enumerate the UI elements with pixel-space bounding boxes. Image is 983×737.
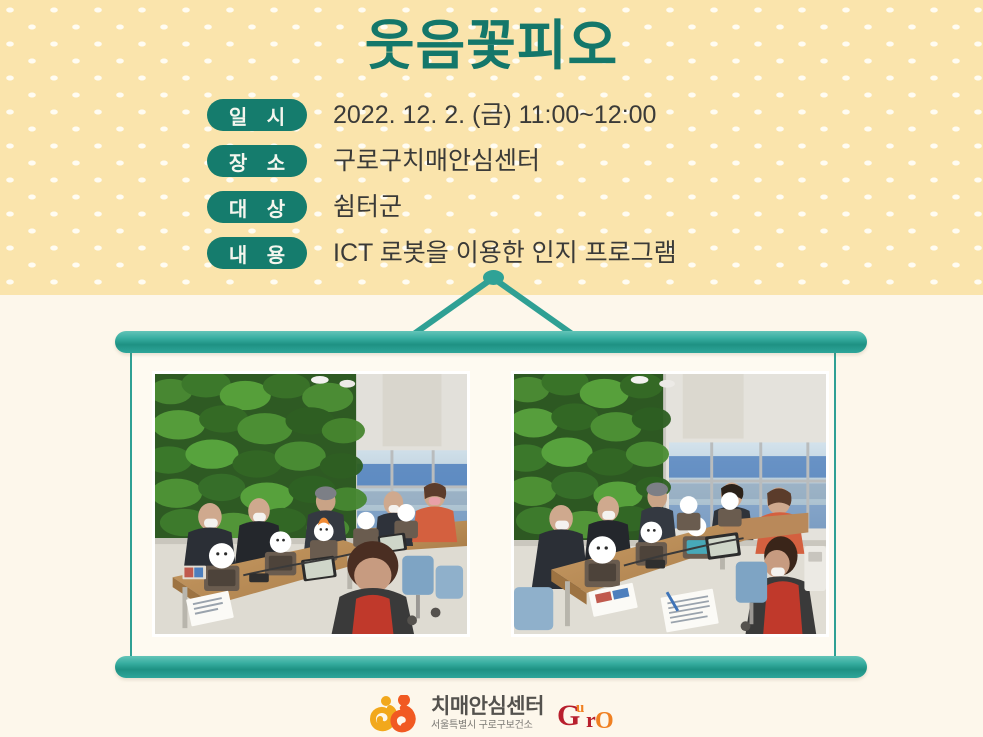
- info-value-place: 구로구치매안심센터: [333, 143, 540, 179]
- footer-logo: 치매안심센터 서울특별시 구로구보건소 G u r O: [0, 690, 983, 737]
- poster-root: 웃음꽃피오 일 시 2022. 12. 2. (금) 11:00~12:00 장…: [0, 0, 983, 737]
- logo-subtitle: 서울특별시 구로구보건소: [431, 721, 544, 731]
- logo-title: 치매안심센터: [431, 696, 544, 717]
- info-list: 일 시 2022. 12. 2. (금) 11:00~12:00 장 소 구로구…: [207, 99, 907, 283]
- info-label-place: 장 소: [207, 145, 307, 177]
- photo-left-illustration: [155, 374, 467, 634]
- banner-rod-bottom: [115, 656, 867, 678]
- photo-right-illustration: [514, 374, 826, 634]
- page-title: 웃음꽃피오: [0, 13, 983, 81]
- svg-text:u: u: [576, 700, 584, 716]
- guro-wordmark-icon: G u r O: [557, 697, 613, 731]
- info-row: 대 상 쉼터군: [207, 191, 907, 237]
- info-row: 장 소 구로구치매안심센터: [207, 145, 907, 191]
- info-label-content: 내 용: [207, 237, 307, 269]
- svg-text:O: O: [595, 708, 613, 731]
- chimae-figures-icon: [370, 695, 422, 733]
- info-label-date: 일 시: [207, 99, 307, 131]
- info-value-content: ICT 로봇을 이용한 인지 프로그램: [333, 235, 677, 271]
- photo-right: [511, 371, 829, 637]
- info-label-target: 대 상: [207, 191, 307, 223]
- hanger-knob-icon: [483, 270, 504, 285]
- info-row: 일 시 2022. 12. 2. (금) 11:00~12:00: [207, 99, 907, 145]
- photo-left: [152, 371, 470, 637]
- info-value-target: 쉼터군: [333, 189, 402, 225]
- banner-rod-top: [115, 331, 867, 353]
- info-value-date: 2022. 12. 2. (금) 11:00~12:00: [333, 97, 656, 133]
- logo-text-block: 치매안심센터 서울특별시 구로구보건소: [431, 696, 544, 731]
